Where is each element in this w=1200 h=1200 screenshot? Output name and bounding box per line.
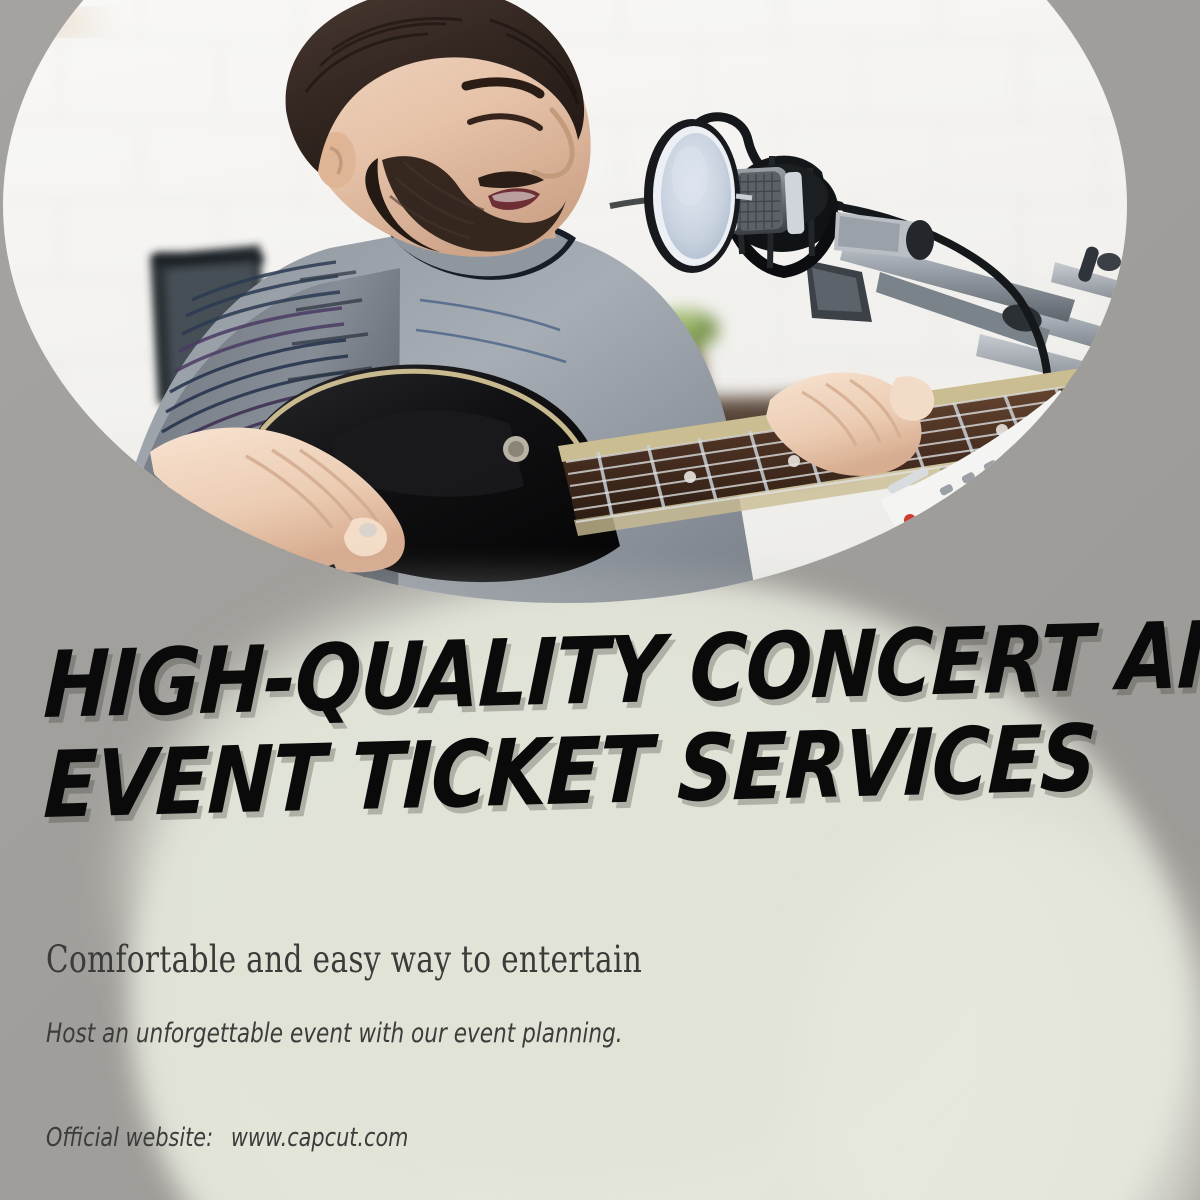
guitar-headstock-icon (1108, 346, 1200, 452)
website-label: Official website: (46, 1123, 213, 1153)
headline-line-2: Event Ticket Services (42, 715, 943, 834)
page-title: High-Quality Concert and Event Ticket Se… (44, 638, 1104, 834)
website-url[interactable]: www.capcut.com (231, 1123, 409, 1153)
website-line: Official website: www.capcut.com (46, 1122, 408, 1154)
tagline: Comfortable and easy way to entertain (46, 938, 642, 982)
poster-canvas: High-Quality Concert and Event Ticket Se… (0, 0, 1200, 1200)
subtitle: Host an unforgettable event with our eve… (46, 1017, 623, 1051)
